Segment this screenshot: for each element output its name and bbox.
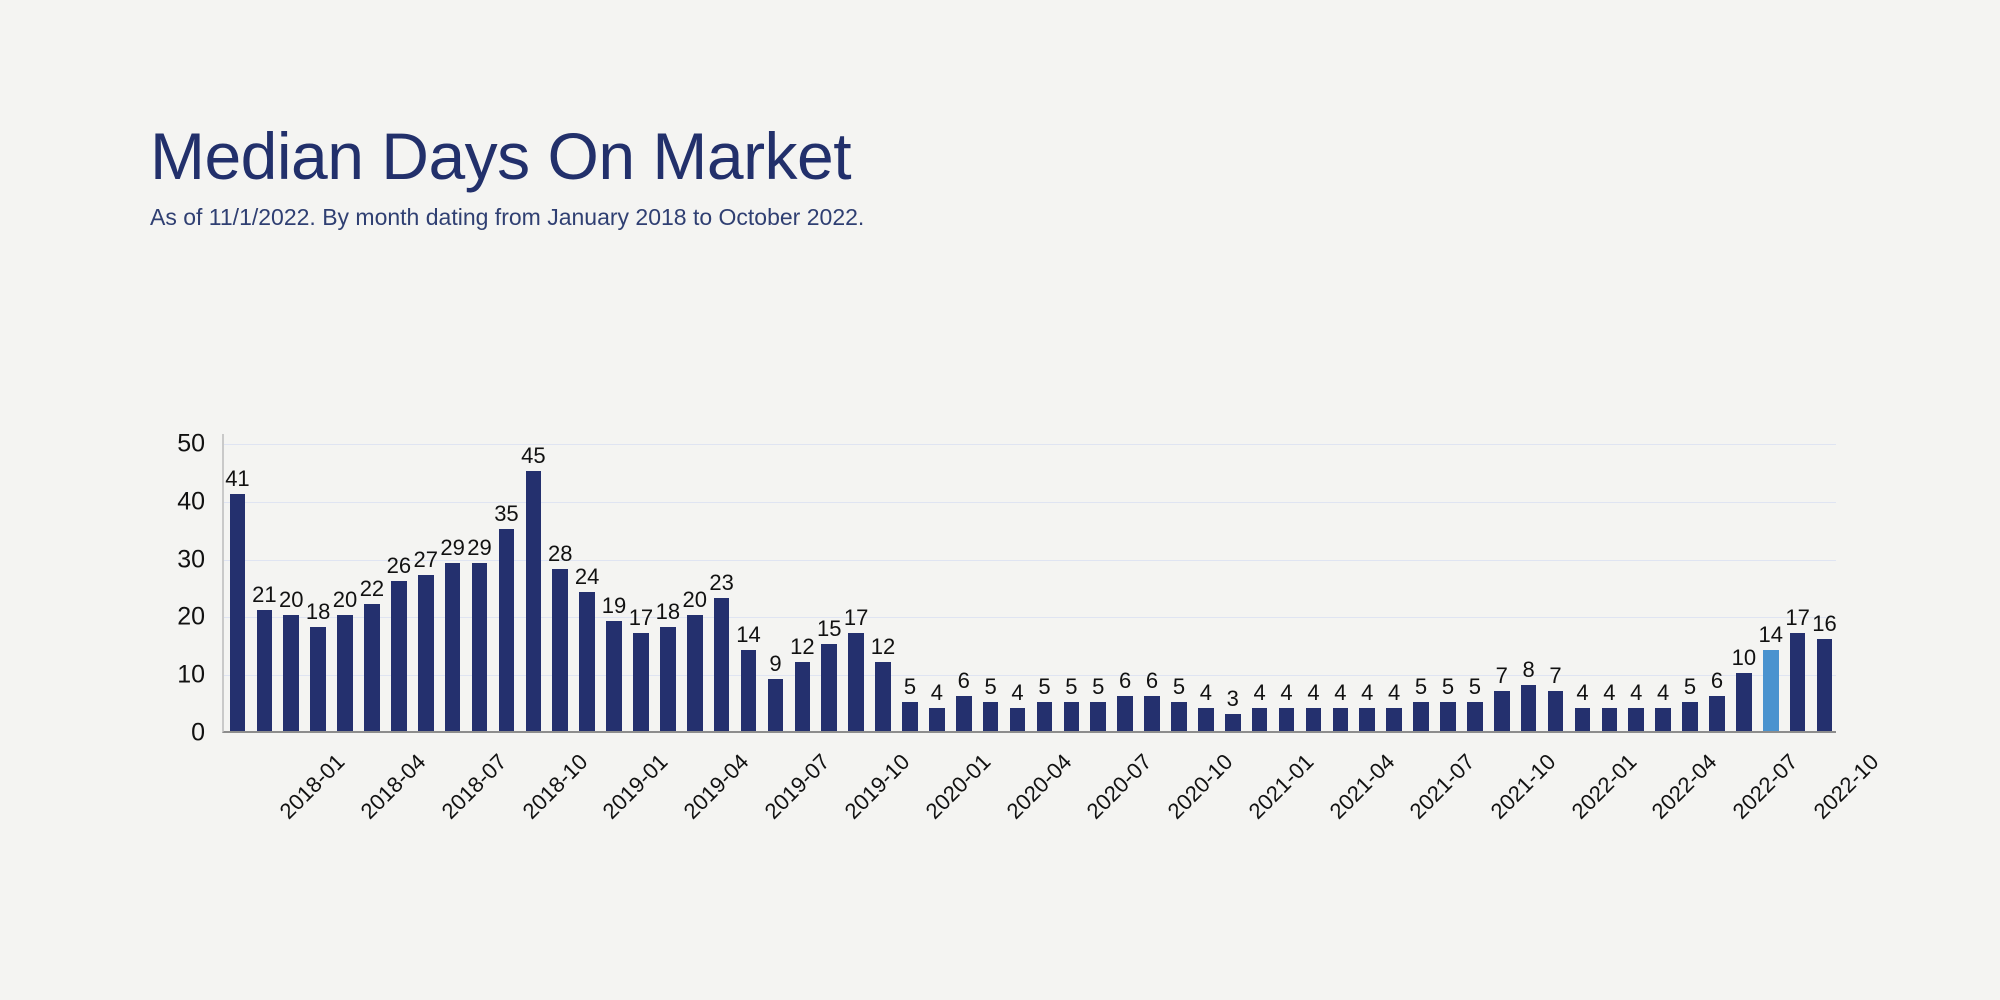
bar[interactable] (1682, 702, 1698, 731)
bar[interactable] (1198, 708, 1214, 731)
bar[interactable] (660, 627, 676, 731)
y-tick-label: 50 (0, 430, 205, 459)
bar[interactable] (257, 610, 273, 731)
bar[interactable] (687, 615, 703, 731)
bar-value-label: 5 (1684, 674, 1696, 700)
bar-value-label: 7 (1549, 663, 1561, 689)
x-tick-label: 2020-04 (1001, 749, 1076, 824)
bar[interactable] (795, 662, 811, 731)
chart-page: Median Days On Market As of 11/1/2022. B… (0, 0, 2000, 1000)
bar[interactable] (741, 650, 757, 731)
bar-value-label: 5 (985, 674, 997, 700)
bar[interactable] (1602, 708, 1618, 731)
bar-value-label: 4 (1630, 680, 1642, 706)
bar-value-label: 17 (629, 605, 653, 631)
bar-value-label: 4 (1657, 680, 1669, 706)
bar-value-label: 5 (1065, 674, 1077, 700)
bar[interactable] (1467, 702, 1483, 731)
bar-value-label: 5 (904, 674, 916, 700)
bar-value-label: 6 (958, 668, 970, 694)
bar-value-label: 45 (521, 443, 545, 469)
bar[interactable] (1117, 696, 1133, 731)
bar-value-label: 4 (1307, 680, 1319, 706)
bar-value-label: 7 (1496, 663, 1508, 689)
x-tick-label: 2021-07 (1405, 749, 1480, 824)
x-tick-label: 2019-10 (840, 749, 915, 824)
bar-value-label: 14 (736, 622, 760, 648)
bar-value-label: 28 (548, 541, 572, 567)
bar[interactable] (714, 598, 730, 731)
bar[interactable] (579, 592, 595, 731)
bar[interactable] (1279, 708, 1295, 731)
x-tick-label: 2020-01 (921, 749, 996, 824)
bar[interactable] (1440, 702, 1456, 731)
x-tick-label: 2019-04 (679, 749, 754, 824)
bar[interactable] (1225, 714, 1241, 731)
bar[interactable] (1413, 702, 1429, 731)
bar[interactable] (230, 494, 246, 731)
x-tick-label: 2020-07 (1082, 749, 1157, 824)
bar[interactable] (364, 604, 380, 731)
bar[interactable] (848, 633, 864, 731)
bar[interactable] (472, 563, 488, 731)
x-tick-label: 2022-01 (1566, 749, 1641, 824)
bar[interactable] (499, 529, 515, 731)
bar-value-label: 29 (440, 535, 464, 561)
y-tick-label: 20 (0, 603, 205, 632)
chart-figure: 01020304050 4121201820222627292935452824… (0, 0, 2000, 1000)
bar[interactable] (1709, 696, 1725, 731)
y-tick-label: 40 (0, 487, 205, 516)
x-tick-label: 2022-07 (1728, 749, 1803, 824)
bar[interactable] (1817, 639, 1833, 731)
bar-value-label: 8 (1523, 657, 1535, 683)
bar-value-label: 41 (225, 466, 249, 492)
bar[interactable] (956, 696, 972, 731)
y-tick-label: 10 (0, 661, 205, 690)
bar-value-label: 4 (1254, 680, 1266, 706)
bar-value-label: 24 (575, 564, 599, 590)
bar[interactable] (526, 471, 542, 731)
bar-value-label: 4 (1011, 680, 1023, 706)
gridline (224, 617, 1836, 618)
bar-value-label: 6 (1711, 668, 1723, 694)
bar-value-label: 5 (1469, 674, 1481, 700)
bar-value-label: 5 (1092, 674, 1104, 700)
bar[interactable] (875, 662, 891, 731)
bar-value-label: 6 (1119, 668, 1131, 694)
bar[interactable] (1064, 702, 1080, 731)
bar-value-label: 19 (602, 593, 626, 619)
bar-value-label: 6 (1146, 668, 1158, 694)
y-tick-label: 30 (0, 545, 205, 574)
bar[interactable] (1010, 708, 1026, 731)
bar[interactable] (310, 627, 326, 731)
bar-value-label: 22 (360, 576, 384, 602)
bar-value-label: 27 (414, 547, 438, 573)
gridline (224, 444, 1836, 445)
bar[interactable] (1521, 685, 1537, 731)
gridline (224, 675, 1836, 676)
bar-value-label: 5 (1038, 674, 1050, 700)
bar[interactable] (1359, 708, 1375, 731)
bar[interactable] (552, 569, 568, 731)
x-tick-label: 2021-04 (1324, 749, 1399, 824)
bar[interactable] (445, 563, 461, 731)
bar-value-label: 10 (1732, 645, 1756, 671)
x-tick-label: 2018-04 (356, 749, 431, 824)
bar[interactable] (391, 581, 407, 731)
bar-value-label: 20 (333, 587, 357, 613)
bar-value-label: 21 (252, 582, 276, 608)
bar[interactable] (1736, 673, 1752, 731)
bar-value-label: 26 (387, 553, 411, 579)
bar[interactable] (283, 615, 299, 731)
bar-value-label: 4 (1361, 680, 1373, 706)
bar-value-label: 3 (1227, 686, 1239, 712)
bar[interactable] (1628, 708, 1644, 731)
gridline (224, 560, 1836, 561)
bar-value-label: 18 (306, 599, 330, 625)
x-tick-label: 2020-10 (1163, 749, 1238, 824)
bar[interactable] (1548, 691, 1564, 731)
bar-value-label: 9 (769, 651, 781, 677)
bar-value-label: 20 (683, 587, 707, 613)
bar[interactable] (1790, 633, 1806, 731)
bar[interactable] (1333, 708, 1349, 731)
bar-value-label: 12 (871, 634, 895, 660)
bar-value-label: 4 (1200, 680, 1212, 706)
bar-value-label: 4 (1603, 680, 1615, 706)
bar[interactable] (633, 633, 649, 731)
bar-value-label: 5 (1173, 674, 1185, 700)
bar[interactable] (1575, 708, 1591, 731)
bar[interactable] (983, 702, 999, 731)
x-tick-label: 2021-01 (1243, 749, 1318, 824)
bar-value-label: 20 (279, 587, 303, 613)
y-tick-label: 0 (0, 719, 205, 748)
x-tick-label: 2018-07 (436, 749, 511, 824)
bar-value-label: 18 (656, 599, 680, 625)
bar[interactable] (929, 708, 945, 731)
bar-value-label: 4 (1280, 680, 1292, 706)
bar[interactable] (1763, 650, 1779, 731)
bar[interactable] (1306, 708, 1322, 731)
bar[interactable] (1252, 708, 1268, 731)
bar-value-label: 17 (844, 605, 868, 631)
bar[interactable] (1494, 691, 1510, 731)
bar-value-label: 4 (1334, 680, 1346, 706)
bar-value-label: 16 (1812, 611, 1836, 637)
bar-value-label: 15 (817, 616, 841, 642)
plot-area: 4121201820222627292935452824191718202314… (222, 434, 1836, 733)
bar-value-label: 12 (790, 634, 814, 660)
x-tick-label: 2021-10 (1486, 749, 1561, 824)
x-tick-label: 2019-07 (759, 749, 834, 824)
bar-value-label: 4 (1388, 680, 1400, 706)
bar-value-label: 29 (467, 535, 491, 561)
bar[interactable] (1171, 702, 1187, 731)
bar-value-label: 5 (1415, 674, 1427, 700)
bar[interactable] (337, 615, 353, 731)
bar[interactable] (1655, 708, 1671, 731)
bar-value-label: 14 (1759, 622, 1783, 648)
bar-value-label: 35 (494, 501, 518, 527)
bar-value-label: 5 (1442, 674, 1454, 700)
bar-value-label: 23 (709, 570, 733, 596)
x-tick-label: 2022-04 (1647, 749, 1722, 824)
bar[interactable] (1090, 702, 1106, 731)
bar-value-label: 17 (1785, 605, 1809, 631)
bar[interactable] (902, 702, 918, 731)
bar[interactable] (606, 621, 622, 731)
bar[interactable] (1386, 708, 1402, 731)
bar[interactable] (768, 679, 784, 731)
bar[interactable] (821, 644, 837, 731)
x-tick-label: 2018-01 (275, 749, 350, 824)
gridline (224, 502, 1836, 503)
bar[interactable] (418, 575, 434, 731)
x-tick-label: 2019-01 (598, 749, 673, 824)
bar-value-label: 4 (1576, 680, 1588, 706)
x-tick-label: 2022-10 (1808, 749, 1883, 824)
bar[interactable] (1037, 702, 1053, 731)
bar[interactable] (1144, 696, 1160, 731)
bar-value-label: 4 (931, 680, 943, 706)
x-tick-label: 2018-10 (517, 749, 592, 824)
